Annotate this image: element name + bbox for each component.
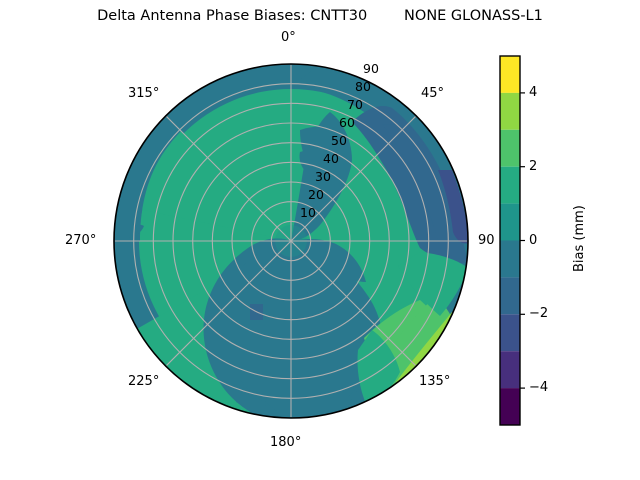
figure-canvas: Delta Antenna Phase Biases: CNTT30 NONE … [0, 0, 640, 480]
azimuth-label-135: 135° [419, 374, 450, 389]
radial-label-20: 20 [308, 187, 324, 202]
bias-colorbar[interactable]: 4 2 0 −2 −4 Bias (mm) [490, 40, 640, 440]
radial-label-10: 10 [300, 205, 316, 220]
colorbar-band-1 [500, 351, 520, 388]
polar-grid [114, 64, 468, 418]
colorbar-band-7 [500, 130, 520, 167]
radial-label-40: 40 [323, 151, 339, 166]
colorbar-tick-2: 2 [529, 159, 537, 174]
colorbar-axis-label: Bias (mm) [572, 205, 587, 272]
colorbar-band-0 [500, 388, 520, 425]
azimuth-label-45: 45° [421, 86, 444, 101]
colorbar-band-5 [500, 204, 520, 241]
azimuth-label-270: 270° [65, 233, 96, 248]
radial-label-90: 90 [363, 61, 379, 76]
colorbar-band-2 [500, 314, 520, 351]
azimuth-label-180: 180° [270, 435, 301, 450]
colorbar-band-6 [500, 167, 520, 204]
radial-label-30: 30 [315, 169, 331, 184]
radial-label-50: 50 [331, 133, 347, 148]
colorbar-tick-minus4: −4 [529, 380, 548, 395]
radial-label-60: 60 [339, 115, 355, 130]
colorbar-band-9 [500, 56, 520, 93]
radial-label-70: 70 [347, 97, 363, 112]
colorbar-ticks [520, 93, 525, 388]
colorbar-tick-0: 0 [529, 233, 537, 248]
colorbar-band-3 [500, 277, 520, 314]
colorbar-tick-minus2: −2 [529, 306, 548, 321]
radial-label-80: 80 [355, 79, 371, 94]
azimuth-label-315: 315° [128, 86, 159, 101]
colorbar-band-4 [500, 241, 520, 278]
azimuth-label-0: 0° [281, 30, 296, 45]
colorbar-svg [490, 40, 640, 440]
polar-contour-plot[interactable]: 0° 45° 90 135° 180° 225° 270° 315° 10 20… [0, 0, 500, 480]
azimuth-label-225: 225° [128, 374, 159, 389]
colorbar-swatches [500, 56, 520, 425]
colorbar-band-8 [500, 93, 520, 130]
colorbar-tick-4: 4 [529, 85, 537, 100]
